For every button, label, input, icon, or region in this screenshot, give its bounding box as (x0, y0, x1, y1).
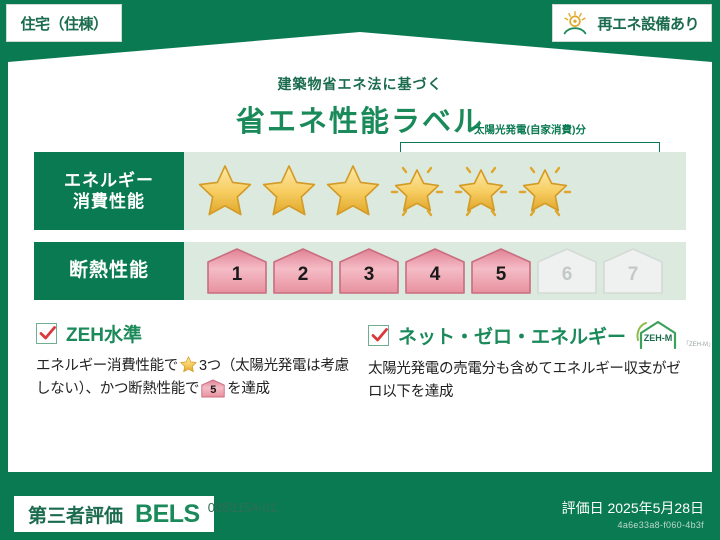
star-icon (322, 160, 384, 222)
criteria-section: ZEH水準 エネルギー消費性能で3つ（太陽光発電は考慮しない）、かつ断熱性能で5… (34, 320, 686, 405)
checkbox-checked-icon (36, 323, 57, 344)
star-icon (258, 160, 320, 222)
energy-star-rating (194, 160, 576, 222)
star-icon (179, 355, 198, 374)
solar-sun-icon (561, 10, 589, 36)
insulation-performance-row: 断熱性能 1 2 3 (34, 242, 686, 300)
evaluation-date: 評価日 2025年5月28日 (562, 498, 704, 518)
insulation-grade-value: 6 (536, 248, 598, 294)
checkbox-checked-icon (368, 325, 389, 346)
insulation-grade-inline-badge: 5 (201, 379, 225, 398)
insulation-grade-value: 2 (272, 248, 334, 294)
third-party-eval-label: 第三者評価 (28, 501, 123, 528)
bels-certification-footer: 第三者評価 BELS 0283154-01 (14, 496, 214, 532)
bels-logo: BELS (135, 500, 200, 528)
insulation-grade-value: 3 (338, 248, 400, 294)
svg-text:ZEH-M: ZEH-M (644, 333, 673, 343)
building-type-chip: 住宅（住棟） (6, 4, 122, 42)
insulation-grade-badge: 3 (338, 248, 400, 294)
insulation-grade-badge: 4 (404, 248, 466, 294)
insulation-grade-badge: 6 (536, 248, 598, 294)
certificate-number: 0283154-01 (208, 500, 277, 515)
renewable-badge-label: 再エネ設備あり (597, 13, 699, 34)
star-icon (194, 160, 256, 222)
insulation-grade-value: 5 (470, 248, 532, 294)
criterion-description: エネルギー消費性能で3つ（太陽光発電は考慮しない）、かつ断熱性能で5を達成 (36, 355, 352, 402)
building-type-label: 住宅（住棟） (20, 13, 107, 34)
renewable-equipment-badge: 再エネ設備あり (552, 4, 712, 42)
star-solar-icon (386, 160, 448, 222)
insulation-grades-panel: 1 2 3 4 5 (184, 242, 686, 300)
insulation-grade-badge: 2 (272, 248, 334, 294)
criterion-net-zero-energy: ネット・ゼロ・エネルギー ZEH-M 「ZEH-M」 太陽光発電の売電分も含めて… (368, 320, 684, 405)
criterion-zeh: ZEH水準 エネルギー消費性能で3つ（太陽光発電は考慮しない）、かつ断熱性能で5… (36, 320, 352, 405)
energy-performance-row: エネルギー 消費性能 太陽光発電(自家消費)分 (34, 152, 686, 230)
insulation-grade-value: 4 (404, 248, 466, 294)
document-hash: 4a6e33a8-f060-4b3f (562, 520, 704, 530)
zeh-m-logo: ZEH-M 「ZEH-M」 (635, 320, 714, 350)
insulation-grade-badge: 7 (602, 248, 664, 294)
energy-stars-panel: 太陽光発電(自家消費)分 (184, 152, 686, 230)
label-card: 建築物省エネ法に基づく 省エネ性能ラベル エネルギー 消費性能 太陽光発電(自家… (8, 32, 712, 472)
label-subtitle: 建築物省エネ法に基づく (34, 74, 686, 94)
page-title: 省エネ性能ラベル (34, 98, 686, 140)
star-solar-icon (514, 160, 576, 222)
evaluation-date-block: 評価日 2025年5月28日 4a6e33a8-f060-4b3f (562, 498, 704, 530)
criterion-title: ネット・ゼロ・エネルギー (398, 322, 626, 349)
criterion-title: ZEH水準 (66, 320, 142, 347)
energy-performance-label: エネルギー 消費性能 (34, 152, 184, 230)
star-solar-icon (450, 160, 512, 222)
energy-performance-label: 住宅（住棟） 再エネ設備あり 建築物省エネ法に基づく 省エネ性能ラベ (0, 0, 720, 540)
zeh-m-caption: 「ZEH-M」 (683, 339, 714, 350)
insulation-grade-value: 7 (602, 248, 664, 294)
insulation-grade-value: 1 (206, 248, 268, 294)
insulation-grade-badge: 5 (470, 248, 532, 294)
insulation-performance-label: 断熱性能 (34, 242, 184, 300)
insulation-grade-badge: 1 (206, 248, 268, 294)
criterion-description: 太陽光発電の売電分も含めてエネルギー収支がゼロ以下を達成 (368, 358, 684, 405)
